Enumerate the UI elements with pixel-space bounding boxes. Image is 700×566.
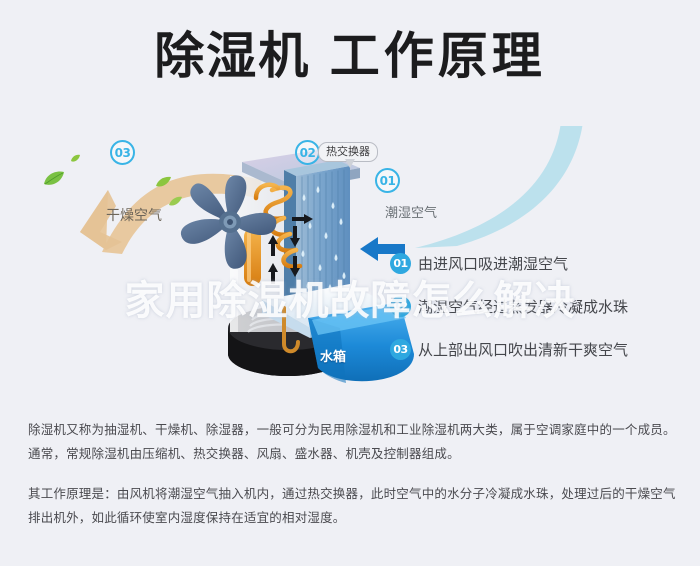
list-item: 01 由进风口吸进潮湿空气 [390,252,690,274]
page-title-text: 除湿机 工作原理 [154,26,545,86]
step-text: 由进风口吸进潮湿空气 [418,253,568,274]
list-item: 03 从上部出风口吹出清新干爽空气 [390,338,690,360]
step-number-badge: 02 [390,296,411,317]
step-text: 潮湿空气经过蒸发器冷凝成水珠 [418,296,628,317]
leaf-icon [42,170,66,188]
label-humid-air: 潮湿空气 [385,202,437,221]
list-item: 02 潮湿空气经过蒸发器冷凝成水珠 [390,295,690,317]
badge-step-01: 01 [375,168,400,193]
infographic-page: 除湿机 工作原理 [0,0,700,566]
paragraph-2: 其工作原理是：由风机将潮湿空气抽入机内，通过热交换器，此时空气中的水分子冷凝成水… [28,482,676,530]
step-number-badge: 01 [390,253,411,274]
page-title: 除湿机 工作原理 [0,26,700,86]
badge-step-03: 03 [110,140,135,165]
body-text-block: 除湿机又称为抽湿机、干燥机、除湿器，一般可分为民用除湿机和工业除湿机两大类，属于… [28,418,676,546]
step-text: 从上部出风口吹出清新干爽空气 [418,339,628,360]
fan-blades-icon [170,162,290,282]
page-title-part1: 除湿机 [154,27,310,85]
step-number-badge: 03 [390,339,411,360]
label-dry-air: 干燥空气 [106,205,162,225]
leaf-icon [70,154,81,163]
steps-list: 01 由进风口吸进潮湿空气 02 潮湿空气经过蒸发器冷凝成水珠 03 从上部出风… [390,252,690,381]
callout-tail-icon [345,159,355,168]
label-water-tank: 水箱 [320,346,346,365]
page-title-part2: 工作原理 [330,27,546,85]
badge-step-02: 02 [295,140,320,165]
paragraph-1: 除湿机又称为抽湿机、干燥机、除湿器，一般可分为民用除湿机和工业除湿机两大类，属于… [28,418,676,466]
